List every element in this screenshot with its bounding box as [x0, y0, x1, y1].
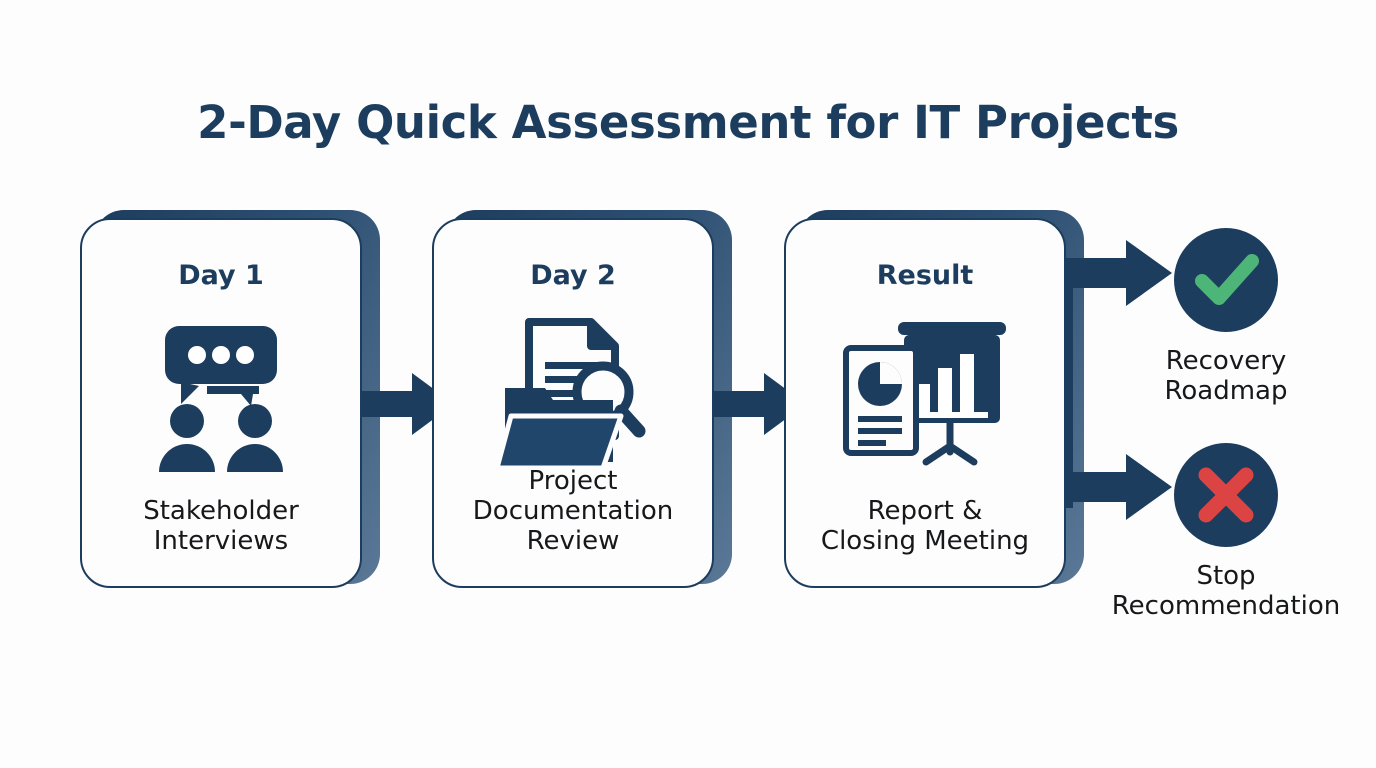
cross-circle-icon — [1174, 443, 1278, 547]
diagram-canvas: 2-Day Quick Assessment for IT Projects D… — [0, 0, 1376, 768]
outcome-recovery-roadmap[interactable]: Recovery Roadmap — [1076, 228, 1376, 406]
check-circle-icon — [1174, 228, 1278, 332]
step-card-title: Result — [786, 260, 1064, 291]
outcome-stop-recommendation[interactable]: Stop Recommendation — [1076, 443, 1376, 621]
step-card-day1[interactable]: Day 1 — [80, 218, 366, 592]
step-card-title: Day 2 — [434, 260, 712, 291]
card-face: Day 2 — [432, 218, 714, 588]
step-card-caption: Stakeholder Interviews — [82, 496, 360, 556]
document-magnifier-folder-icon — [434, 316, 712, 476]
step-card-caption: Report & Closing Meeting — [786, 496, 1064, 556]
step-card-title: Day 1 — [82, 260, 360, 291]
step-card-result[interactable]: Result — [784, 218, 1070, 592]
page-title: 2-Day Quick Assessment for IT Projects — [0, 96, 1376, 149]
step-card-day2[interactable]: Day 2 — [432, 218, 718, 592]
step-card-caption: Project Documentation Review — [434, 466, 712, 556]
outcome-label: Recovery Roadmap — [1076, 346, 1376, 406]
report-presentation-chart-icon — [786, 316, 1064, 476]
card-face: Result — [784, 218, 1066, 588]
speech-bubble-people-icon — [82, 316, 360, 476]
outcome-label: Stop Recommendation — [1076, 561, 1376, 621]
card-face: Day 1 — [80, 218, 362, 588]
